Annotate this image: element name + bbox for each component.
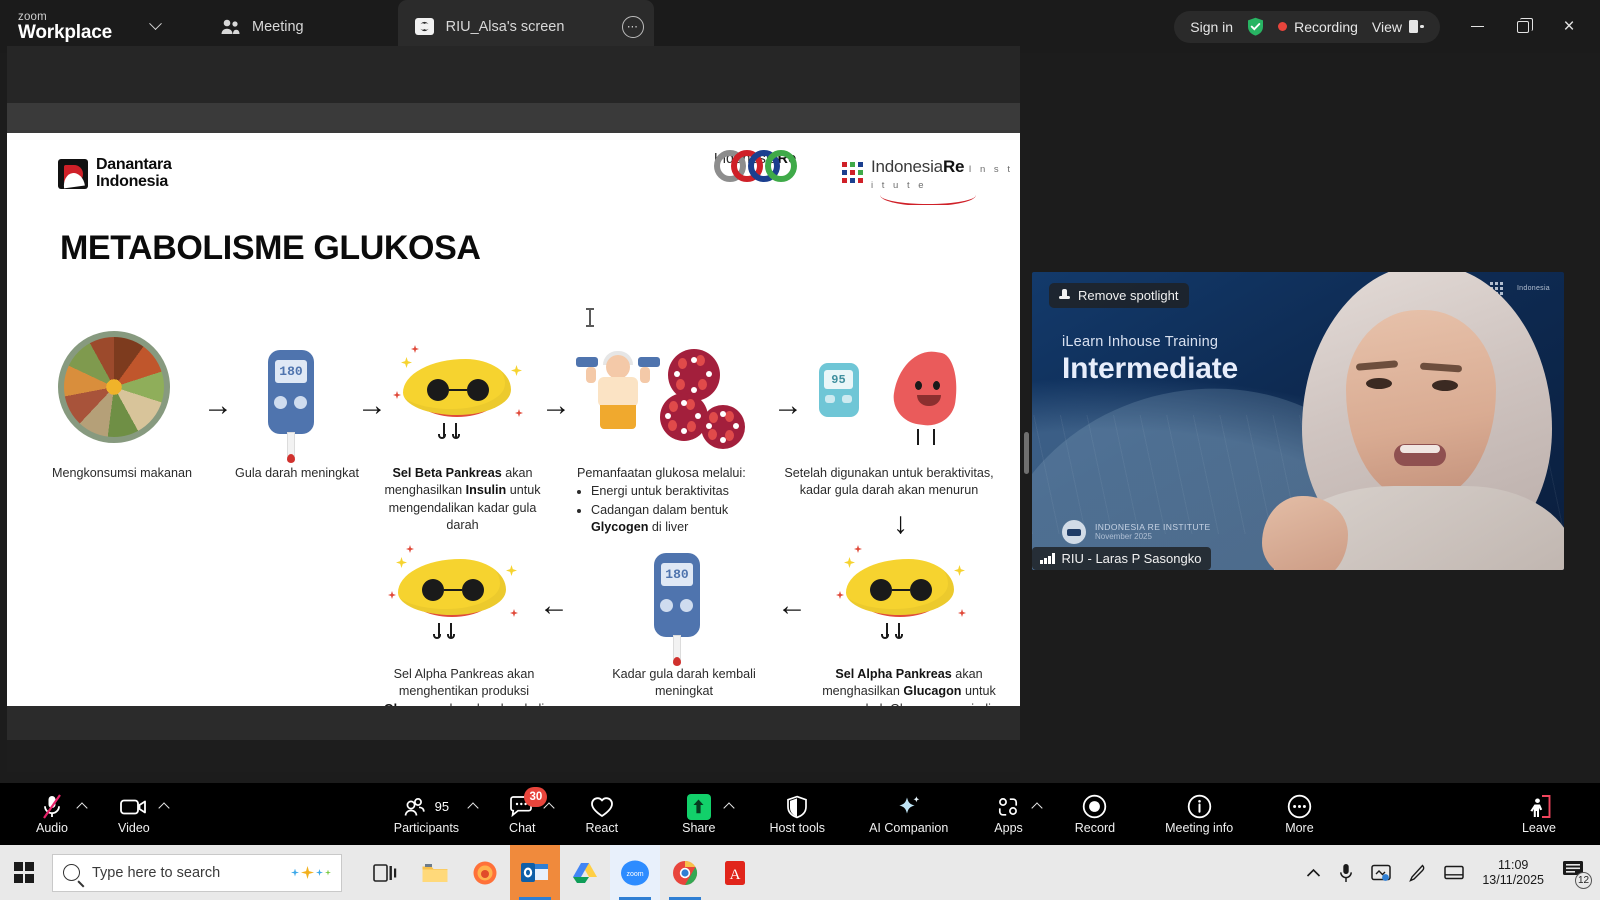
svg-text:A: A — [730, 867, 741, 883]
status-pill: Sign in Recording View — [1174, 11, 1440, 43]
pin-icon — [1058, 289, 1071, 303]
arrow-right-1: → — [203, 391, 233, 421]
control-participants-label: Participants — [394, 822, 459, 835]
shield-icon — [1247, 17, 1264, 36]
windows-taskbar: Type here to search zoom — [0, 845, 1600, 900]
start-button[interactable] — [0, 845, 48, 900]
step-6-bold-2: Glucagon — [903, 684, 961, 698]
minimize-icon — [1471, 26, 1484, 28]
tab-shared-screen-label: RIU_Alsa's screen — [446, 19, 565, 35]
arrow-left-2: ← — [777, 591, 807, 621]
step-3-bold-1: Sel Beta Pankreas — [392, 466, 501, 480]
touchpad-tray-icon[interactable] — [1444, 865, 1464, 880]
search-icon — [63, 864, 80, 881]
search-placeholder: Type here to search — [92, 865, 220, 881]
participants-options-caret-icon[interactable] — [465, 783, 481, 845]
page-title: METABOLISME GLUKOSA — [60, 229, 481, 268]
institute-swoosh-icon — [880, 195, 976, 205]
indonesiare-logo: IndonesiaRe — [685, 150, 825, 168]
window-controls-group: Sign in Recording View × — [1174, 0, 1592, 53]
screen-capture-tray-icon[interactable] — [1371, 864, 1391, 882]
step-4-bullet-1: Energi untuk beraktivitas — [591, 483, 782, 500]
danantara-mark-icon — [58, 159, 88, 189]
arrow-right-4: → — [773, 391, 803, 421]
glucometer-illustration-2: 180 — [654, 553, 700, 637]
video-overlay-footer: INDONESIA RE INSTITUTE November 2025 — [1062, 520, 1211, 544]
camera-icon — [1062, 520, 1086, 544]
panel-drag-handle[interactable] — [1024, 432, 1029, 474]
share-bottom-dark — [7, 740, 1020, 772]
pancreas-alpha-illustration-left — [392, 551, 512, 625]
glucometer-high-1: 180 — [268, 350, 314, 434]
chevron-down-icon[interactable] — [144, 16, 166, 38]
file-explorer-icon[interactable] — [410, 845, 460, 900]
control-chat[interactable]: 30 Chat — [503, 783, 541, 845]
control-participants[interactable]: 95 Participants — [388, 783, 465, 845]
control-ai-companion-label: AI Companion — [869, 822, 948, 835]
step-8-caption: Sel Alpha Pankreas akan menghentikan pro… — [369, 666, 559, 706]
tab-meeting-label: Meeting — [252, 19, 304, 35]
presentation-slide[interactable]: Danantara Indonesia IndonesiaRe — [7, 133, 1020, 706]
control-leave[interactable]: Leave — [1516, 783, 1562, 845]
taskbar-clock[interactable]: 11:09 13/11/2025 — [1482, 858, 1544, 888]
adobe-acrobat-icon[interactable]: A — [710, 845, 760, 900]
minimize-button[interactable] — [1454, 0, 1500, 53]
control-video-label: Video — [118, 822, 150, 835]
shield-icon — [786, 794, 808, 820]
step-7-caption: Kadar gula darah kembali meningkat — [595, 666, 773, 701]
task-view-icon[interactable] — [360, 845, 410, 900]
step-6-caption: Sel Alpha Pankreas akan menghasilkan Glu… — [819, 666, 999, 706]
glucometer-low-illustration: 95 — [819, 363, 859, 417]
control-react[interactable]: React — [579, 783, 624, 845]
step-4-bullet-2: Cadangan dalam bentuk Glycogen di liver — [591, 502, 782, 537]
participant-webcam-image — [1244, 272, 1564, 570]
video-options-caret-icon[interactable] — [156, 783, 172, 845]
layout-view-icon — [1409, 20, 1424, 34]
search-input[interactable]: Type here to search — [52, 854, 342, 892]
video-overlay-title: iLearn Inhouse Training Intermediate — [1062, 334, 1238, 386]
control-leave-label: Leave — [1522, 822, 1556, 835]
control-more[interactable]: More — [1279, 783, 1319, 845]
microphone-tray-icon[interactable] — [1339, 863, 1353, 883]
google-drive-icon[interactable] — [560, 845, 610, 900]
text-cursor-icon — [589, 308, 591, 327]
glucometer-reading-low: 95 — [824, 370, 853, 389]
participant-video-tile[interactable]: Indonesia iLearn Inhouse Training Interm… — [1032, 272, 1564, 570]
view-label: View — [1372, 19, 1402, 35]
recording-indicator[interactable]: Recording — [1278, 19, 1358, 35]
danantara-line1: Danantara — [96, 156, 172, 173]
control-share-label: Share — [682, 822, 715, 835]
recording-label: Recording — [1294, 19, 1358, 35]
people-icon: 95 — [404, 794, 449, 820]
arrow-right-3: → — [541, 391, 571, 421]
zoom-app-window: zoom Workplace Meeting RIU_Alsa's screen… — [0, 0, 1600, 900]
view-button[interactable]: View — [1372, 19, 1424, 35]
step-3-caption: Sel Beta Pankreas akan menghasilkan Insu… — [375, 465, 550, 535]
share-screen-icon — [687, 794, 711, 820]
dot-grid-icon — [842, 162, 863, 183]
record-icon — [1082, 794, 1107, 820]
shared-screen-region: Danantara Indonesia IndonesiaRe — [7, 46, 1020, 772]
maximize-button[interactable] — [1500, 0, 1546, 53]
video-footer-line2: November 2025 — [1095, 532, 1211, 541]
control-audio[interactable]: Audio — [30, 783, 74, 845]
institute-logo-text: IndonesiaRe I n s t i t u t e — [871, 158, 1020, 192]
glucometer-illustration-1: 180 — [268, 350, 314, 434]
control-apps[interactable]: Apps — [988, 783, 1029, 845]
arrow-down-1: ↓ — [893, 509, 908, 539]
show-hidden-icons-chevron-icon[interactable] — [1306, 868, 1321, 878]
step-4-bullet-2-pre: Cadangan dalam bentuk — [591, 503, 728, 517]
clock-date: 13/11/2025 — [1482, 873, 1544, 888]
microphone-muted-icon — [40, 794, 64, 820]
danantara-line2: Indonesia — [96, 173, 168, 190]
tab-more-options-icon[interactable]: ⋯ — [622, 16, 644, 38]
control-audio-label: Audio — [36, 822, 68, 835]
institute-suffix: Re — [943, 157, 964, 176]
participant-name-label: RIU - Laras P Sasongko — [1062, 551, 1202, 566]
chat-unread-badge: 30 — [524, 787, 547, 807]
close-button[interactable]: × — [1546, 0, 1592, 53]
control-record[interactable]: Record — [1069, 783, 1121, 845]
meeting-control-bar: Audio Video 95 Participants 30 Chat — [0, 783, 1600, 845]
participants-count: 95 — [435, 799, 449, 814]
pancreas-beta-illustration — [397, 351, 517, 425]
share-window-band — [7, 103, 1020, 133]
pancreas-alpha-illustration-right — [840, 551, 960, 625]
apps-icon — [996, 794, 1022, 820]
control-host-tools[interactable]: Host tools — [763, 783, 831, 845]
chrome-icon[interactable] — [660, 845, 710, 900]
control-ai-companion[interactable]: AI Companion — [863, 783, 954, 845]
video-overlay-line1: iLearn Inhouse Training — [1062, 334, 1238, 350]
control-apps-label: Apps — [994, 822, 1023, 835]
outlook-icon[interactable] — [510, 845, 560, 900]
control-record-label: Record — [1075, 822, 1115, 835]
step-4-bullet-2-post: di liver — [648, 520, 688, 534]
institute-word: Indonesia — [871, 157, 943, 176]
windows-logo-icon — [14, 862, 35, 883]
zoom-brand-line2: Workplace — [18, 23, 130, 43]
pen-tray-icon[interactable] — [1409, 864, 1426, 882]
notification-center-button[interactable]: 12 — [1562, 859, 1590, 887]
maximize-icon — [1517, 21, 1529, 33]
step-4-caption: Pemanfaatan glukosa melalui: Energi untu… — [577, 465, 782, 537]
control-more-label: More — [1285, 822, 1313, 835]
control-react-label: React — [585, 822, 618, 835]
food-bowl-illustration — [58, 331, 170, 443]
glucometer-low: 95 — [819, 363, 859, 417]
step-6-bold-1: Sel Alpha Pankreas — [835, 667, 951, 681]
copilot-sparkle-icon[interactable] — [291, 866, 331, 879]
indonesiare-institute-logo: IndonesiaRe I n s t i t u t e — [842, 158, 1020, 192]
firefox-icon[interactable] — [460, 845, 510, 900]
audio-options-caret-icon[interactable] — [74, 783, 90, 845]
participant-name-badge: RIU - Laras P Sasongko — [1032, 547, 1211, 570]
step-5-caption: Setelah digunakan untuk beraktivitas, ka… — [775, 465, 1003, 500]
share-top-letterbox — [7, 46, 1020, 103]
glucometer-reading-2: 180 — [661, 563, 693, 586]
control-meeting-info[interactable]: Meeting info — [1159, 783, 1239, 845]
sparkle-icon — [896, 794, 922, 820]
arrow-right-2: → — [357, 391, 387, 421]
sign-in-button[interactable]: Sign in — [1190, 19, 1233, 35]
blood-drop-character-illustration — [857, 351, 967, 437]
step-2-caption: Gula darah meningkat — [207, 465, 387, 482]
remove-spotlight-label: Remove spotlight — [1078, 288, 1178, 303]
blood-cells-illustration — [660, 349, 750, 439]
zoom-icon[interactable]: zoom — [610, 845, 660, 900]
chat-bubble-icon: 30 — [509, 794, 535, 820]
info-icon — [1187, 794, 1212, 820]
video-footer-line1: INDONESIA RE INSTITUTE — [1095, 523, 1211, 533]
arrow-left-1: ← — [539, 591, 569, 621]
exercise-person-illustration — [572, 349, 664, 429]
system-tray: 11:09 13/11/2025 12 — [1306, 858, 1600, 888]
step-1-caption: Mengkonsumsi makanan — [27, 465, 217, 482]
encryption-status[interactable] — [1247, 17, 1264, 36]
step-4-lead: Pemanfaatan glukosa melalui: — [577, 465, 782, 482]
people-icon — [220, 18, 241, 35]
notification-count: 12 — [1575, 872, 1592, 889]
video-overlay-line2: Intermediate — [1062, 352, 1238, 386]
step-8-pre: Sel Alpha Pankreas akan menghentikan pro… — [394, 667, 535, 698]
danantara-logo: Danantara Indonesia — [58, 157, 172, 191]
control-chat-label: Chat — [509, 822, 535, 835]
danantara-logo-text: Danantara Indonesia — [96, 157, 172, 191]
glucometer-reading-1: 180 — [275, 360, 307, 383]
svg-text:zoom: zoom — [626, 871, 643, 878]
zoom-workplace-logo: zoom Workplace — [18, 11, 130, 43]
control-video[interactable]: Video — [112, 783, 156, 845]
control-share[interactable]: Share — [676, 783, 721, 845]
heart-icon — [590, 794, 614, 820]
control-host-tools-label: Host tools — [769, 822, 825, 835]
record-dot-icon — [1278, 22, 1287, 31]
zoom-brand-line1: zoom — [18, 11, 130, 23]
step-3-bold-2: Insulin — [466, 483, 507, 497]
ellipsis-icon — [1287, 794, 1312, 820]
signal-bars-icon — [1040, 553, 1055, 564]
clock-time: 11:09 — [1482, 858, 1544, 873]
step-4-bullet-2-bold: Glycogen — [591, 520, 648, 534]
remove-spotlight-button[interactable]: Remove spotlight — [1049, 283, 1189, 308]
apps-options-caret-icon[interactable] — [1029, 783, 1045, 845]
glucometer-high-2: 180 — [654, 553, 700, 637]
camera-icon — [120, 794, 148, 820]
leave-door-icon — [1525, 794, 1553, 820]
sign-in-label: Sign in — [1190, 19, 1233, 35]
control-meeting-info-label: Meeting info — [1165, 822, 1233, 835]
close-icon: × — [1563, 17, 1574, 36]
screen-share-icon — [414, 17, 435, 36]
share-options-caret-icon[interactable] — [721, 783, 737, 845]
